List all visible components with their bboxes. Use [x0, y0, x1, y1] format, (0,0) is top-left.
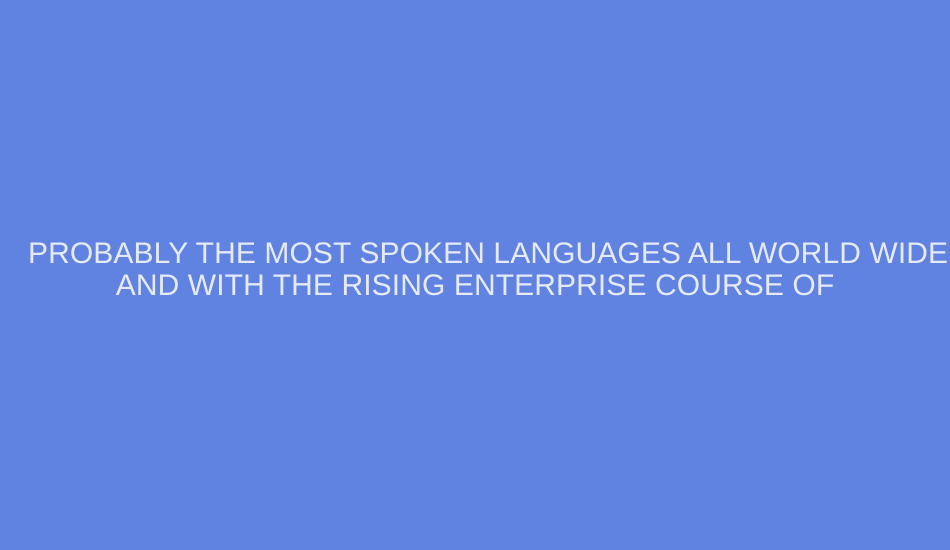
- page-title-line-1: PROBABLY THE MOST SPOKEN LANGUAGES ALL W…: [28, 238, 922, 270]
- page-title: PROBABLY THE MOST SPOKEN LANGUAGES ALL W…: [0, 238, 950, 302]
- page-root: PROBABLY THE MOST SPOKEN LANGUAGES ALL W…: [0, 0, 950, 550]
- page-title-line-2: AND WITH THE RISING ENTERPRISE COURSE OF: [28, 270, 922, 302]
- hero-banner: PROBABLY THE MOST SPOKEN LANGUAGES ALL W…: [0, 0, 950, 550]
